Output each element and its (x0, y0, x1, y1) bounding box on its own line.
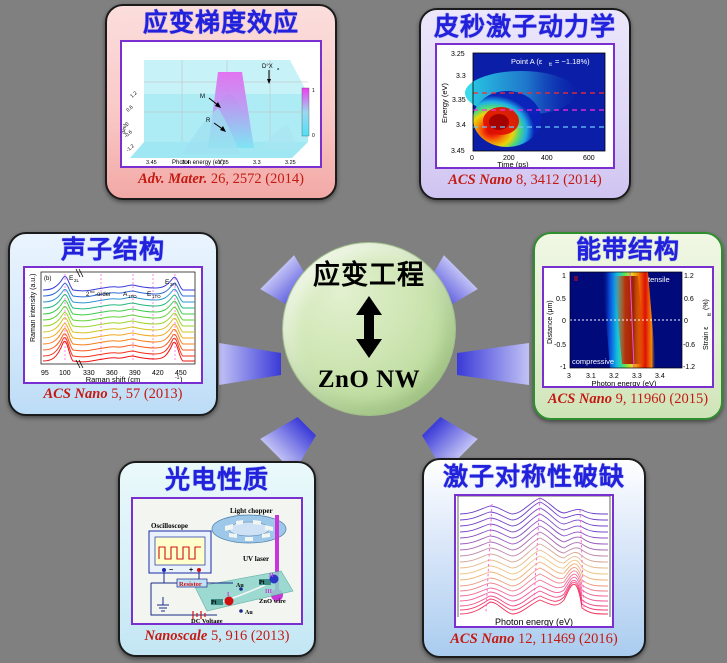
panel-citation: ACS Nano 9, 11960 (2015) (548, 392, 708, 407)
panel-title: 应变梯度效应 (143, 11, 299, 36)
citation-rest: 5, 57 (2013) (108, 386, 183, 402)
svg-text:Light chopper: Light chopper (230, 507, 273, 515)
svg-text:III: III (265, 589, 273, 595)
figure-heatmap-band: II tensile compressive 1 0.5 0 -0.5 -1 1… (542, 266, 714, 388)
figure-surface3d: D°X a M R 1 0 3.45 3. (120, 40, 322, 168)
double-vertical-arrow-icon (354, 296, 384, 363)
svg-text:tensile: tensile (648, 275, 670, 284)
svg-text:3: 3 (567, 373, 571, 380)
svg-text:compressive: compressive (572, 357, 614, 366)
panel-strain-gradient[interactable]: 应变梯度效应 (105, 4, 337, 200)
citation-journal: Adv. Mater. (138, 171, 207, 187)
panel-title: 能带结构 (576, 238, 680, 263)
citation-journal: ACS Nano (448, 172, 512, 188)
svg-text:+: + (189, 567, 193, 574)
panel-citation: Adv. Mater. 26, 2572 (2014) (138, 172, 304, 187)
svg-text:3.3: 3.3 (253, 160, 261, 166)
svg-text:1: 1 (312, 88, 315, 94)
center-title: 应变工程 (313, 262, 425, 289)
panel-citation: ACS Nano 5, 57 (2013) (44, 387, 183, 402)
svg-text:Time (ps): Time (ps) (497, 160, 529, 167)
panel-phonon-structure[interactable]: 声子结构 (b) (8, 232, 218, 416)
svg-text:-1: -1 (560, 364, 566, 371)
panel-title: 声子结构 (61, 238, 165, 263)
svg-text:-0.6: -0.6 (683, 342, 695, 349)
svg-text:2H: 2H (170, 282, 176, 287)
svg-text:Energy (eV): Energy (eV) (440, 82, 449, 123)
svg-text:-1.2: -1.2 (683, 364, 695, 371)
svg-text:UV laser: UV laser (243, 555, 269, 563)
svg-text:II: II (574, 276, 578, 283)
svg-text:0: 0 (684, 318, 688, 325)
svg-text:II: II (269, 573, 274, 579)
axis-label-x: Photon energy (eV) (456, 617, 612, 627)
citation-rest: 5, 916 (2013) (207, 628, 289, 644)
panel-citation: Nanoscale 5, 916 (2013) (144, 629, 289, 644)
citation-journal: Nanoscale (144, 628, 207, 644)
svg-text:M: M (200, 94, 205, 100)
svg-text:Au: Au (236, 583, 244, 589)
svg-text:= −1.18%): = −1.18%) (555, 57, 590, 66)
svg-text:3.45: 3.45 (146, 160, 157, 166)
svg-text:600: 600 (583, 155, 595, 162)
figure-device-schematic: Light chopper UV laser Oscilloscope − + … (131, 497, 303, 625)
svg-text:nd: nd (90, 289, 94, 294)
citation-rest: 9, 11960 (2015) (612, 391, 708, 407)
citation-journal: ACS Nano (548, 391, 612, 407)
panel-citation: ACS Nano 12, 11469 (2016) (450, 632, 617, 647)
svg-text:3.35: 3.35 (452, 97, 466, 104)
svg-text:ZnO wire: ZnO wire (259, 598, 286, 605)
svg-text:3.3: 3.3 (456, 73, 466, 80)
svg-text:0.6: 0.6 (684, 296, 694, 303)
svg-text:Oscilloscope: Oscilloscope (151, 522, 188, 530)
svg-text:Strain ε: Strain ε (703, 327, 710, 350)
svg-text:2L: 2L (74, 278, 80, 283)
figure-spectra-stack: 3.2 3.3 3.4 Photon energy (eV) (454, 494, 614, 628)
svg-text:Raman shift (cm: Raman shift (cm (86, 375, 141, 382)
axis-label-x: Photon energy (eV) (172, 160, 224, 166)
citation-journal: ACS Nano (450, 631, 514, 647)
figure-canvas: 应变工程 ZnO NW 应变梯度效应 (0, 0, 727, 663)
svg-text:1TO: 1TO (128, 294, 137, 299)
svg-text:Resistor: Resistor (179, 581, 202, 588)
svg-text:D°X: D°X (262, 64, 273, 70)
svg-text:-1: -1 (175, 375, 180, 381)
svg-text:95: 95 (41, 370, 49, 377)
panel-exciton-symmetry-breaking[interactable]: 激子对称性破缺 (422, 458, 646, 658)
svg-text:100: 100 (59, 370, 71, 377)
svg-text:Au: Au (245, 610, 253, 616)
panel-picosecond-exciton-dynamics[interactable]: 皮秒激子动力学 (419, 8, 631, 200)
svg-text:3.45: 3.45 (451, 148, 465, 155)
svg-text:DC Voltage: DC Voltage (191, 618, 223, 623)
citation-rest: 26, 2572 (2014) (207, 171, 304, 187)
svg-text:420: 420 (152, 370, 164, 377)
panel-title: 激子对称性破缺 (443, 465, 625, 490)
panel-citation: ACS Nano 8, 3412 (2014) (448, 173, 602, 188)
svg-text:−: − (169, 567, 173, 574)
svg-text:-order: -order (95, 292, 111, 298)
svg-text:400: 400 (541, 155, 553, 162)
svg-text:1: 1 (562, 273, 566, 280)
svg-text:(%): (%) (703, 299, 710, 310)
svg-text:1TO: 1TO (152, 294, 161, 299)
svg-text:3.25: 3.25 (451, 51, 465, 58)
svg-text:0.5: 0.5 (556, 296, 566, 303)
figure-heatmap-dynamics: Point A (ε tt = −1.18%) 3.25 3.3 3.35 3.… (435, 43, 615, 169)
svg-text:0: 0 (470, 155, 474, 162)
svg-text:3.4: 3.4 (456, 122, 466, 129)
svg-text:0: 0 (312, 133, 315, 139)
panel-optoelectronic-properties[interactable]: 光电性质 Light chopper (118, 461, 316, 657)
panel-band-structure[interactable]: 能带结构 (533, 232, 723, 420)
svg-text:Distance (μm): Distance (μm) (547, 300, 554, 344)
svg-text:R: R (206, 118, 211, 124)
citation-rest: 12, 11469 (2016) (514, 631, 617, 647)
center-hub[interactable]: 应变工程 ZnO NW (283, 243, 455, 415)
svg-text:0: 0 (562, 318, 566, 325)
panel-title: 皮秒激子动力学 (434, 15, 616, 40)
svg-text:Pt: Pt (211, 600, 217, 606)
panel-title: 光电性质 (165, 468, 269, 493)
svg-text:Pt: Pt (259, 580, 265, 586)
svg-text:Photon energy (eV): Photon energy (eV) (591, 379, 657, 386)
svg-text:3.25: 3.25 (285, 160, 296, 166)
svg-text:1.2: 1.2 (684, 273, 694, 280)
citation-rest: 8, 3412 (2014) (512, 172, 601, 188)
svg-text:(b): (b) (44, 276, 51, 282)
figure-raman: (b) (23, 266, 203, 384)
svg-text:Raman intensity (a.u.): Raman intensity (a.u.) (30, 274, 37, 342)
figure-annotation: Point A (ε (511, 57, 543, 66)
svg-text:-0.5: -0.5 (554, 342, 566, 349)
citation-journal: ACS Nano (44, 386, 108, 402)
center-subtitle: ZnO NW (318, 367, 420, 392)
